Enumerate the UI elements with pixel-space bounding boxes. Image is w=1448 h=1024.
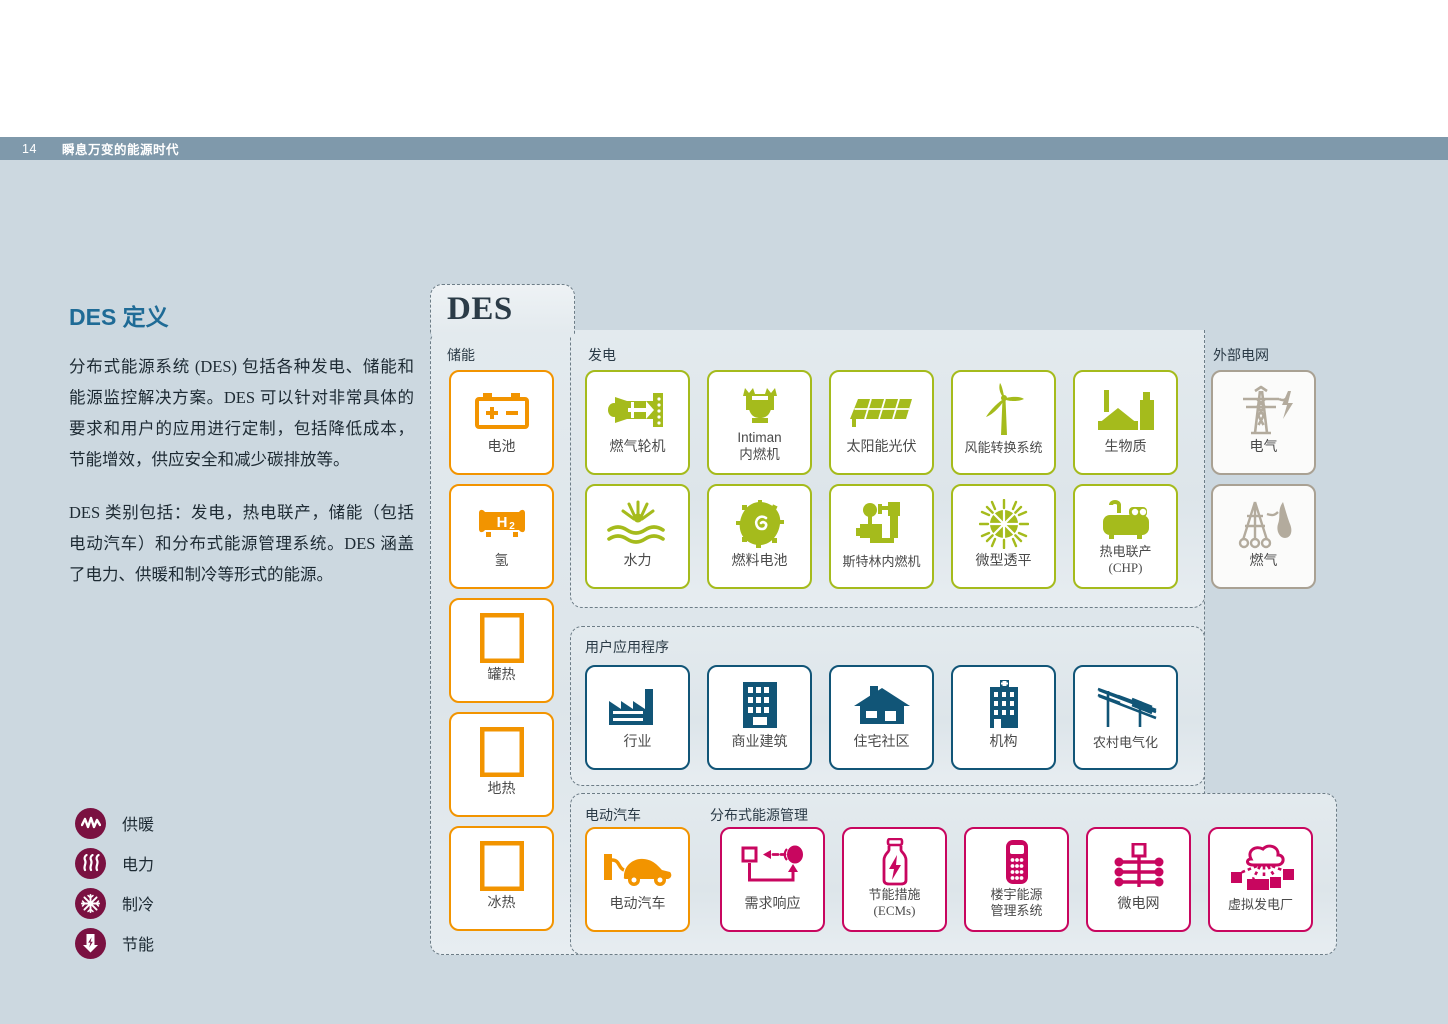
- bems-phone-icon: [978, 838, 1056, 886]
- card-label: 地热: [451, 782, 552, 798]
- card-label: 商业建筑: [709, 735, 810, 751]
- card-label: 燃料电池: [709, 554, 810, 570]
- chp-icon: [1087, 495, 1165, 543]
- wind-turbine-icon: [965, 381, 1043, 439]
- microgrid-icon: [1100, 838, 1178, 896]
- card-gas-grid[interactable]: 燃气: [1211, 484, 1316, 589]
- commercial-building-icon: [721, 676, 799, 734]
- card-micro-turbine[interactable]: 微型透平: [951, 484, 1056, 589]
- card-geothermal[interactable]: 地热: [449, 712, 554, 817]
- card-label-bottom: (CHP): [1075, 560, 1176, 575]
- card-residential[interactable]: 住宅社区: [829, 665, 934, 770]
- group-title-external-grid: 外部电网: [1213, 345, 1269, 365]
- card-label-bottom: 管理系统: [966, 903, 1067, 918]
- svg-text:2: 2: [509, 521, 515, 532]
- card-label: 生物质: [1075, 440, 1176, 456]
- card-hydrogen[interactable]: H 2 氢: [449, 484, 554, 589]
- card-virtual-power-plant[interactable]: 虚拟发电厂: [1208, 827, 1313, 932]
- house-icon: [843, 676, 921, 734]
- card-hydro-power[interactable]: 水力: [585, 484, 690, 589]
- card-fuel-cell[interactable]: 燃料电池: [707, 484, 812, 589]
- fuel-cell-icon: [721, 495, 799, 553]
- group-title-storage: 储能: [447, 345, 475, 365]
- card-ecm[interactable]: 节能措施 (ECMs): [842, 827, 947, 932]
- card-label: 农村电气化: [1075, 735, 1176, 750]
- card-ice-cold[interactable]: 冰热: [449, 826, 554, 931]
- card-combustion-engine[interactable]: Intiman 内燃机: [707, 370, 812, 475]
- group-title-generation: 发电: [588, 345, 616, 365]
- card-stirling-engine[interactable]: 斯特林内燃机: [829, 484, 934, 589]
- biomass-icon: [1087, 381, 1165, 439]
- des-diagram: DES 储能 发电 外部电网 用户应用程序 电动汽车 分布式能源管理 电池 H …: [0, 0, 1448, 1024]
- card-wind-turbine[interactable]: 风能转换系统: [951, 370, 1056, 475]
- card-label: 风能转换系统: [953, 440, 1054, 455]
- rural-power-line-icon: [1087, 676, 1165, 734]
- card-label: 微电网: [1088, 897, 1189, 913]
- card-gas-turbine[interactable]: 燃气轮机: [585, 370, 690, 475]
- card-label: 机构: [953, 735, 1054, 751]
- card-label: 电池: [451, 440, 552, 456]
- card-industry[interactable]: 行业: [585, 665, 690, 770]
- card-bems[interactable]: 楼宇能源 管理系统: [964, 827, 1069, 932]
- des-tab-label: DES: [447, 291, 513, 328]
- gas-flame-icon: [1225, 495, 1303, 553]
- des-tab: DES: [430, 284, 575, 334]
- group-title-des-management: 分布式能源管理: [710, 805, 808, 825]
- card-label: 热电联产: [1075, 544, 1176, 559]
- card-institution[interactable]: 机构: [951, 665, 1056, 770]
- card-demand-response[interactable]: 需求响应: [720, 827, 825, 932]
- card-biomass[interactable]: 生物质: [1073, 370, 1178, 475]
- card-label-bottom: (ECMs): [844, 903, 945, 918]
- card-microgrid[interactable]: 微电网: [1086, 827, 1191, 932]
- card-electric-vehicle[interactable]: 电动汽车: [585, 827, 690, 932]
- hydro-power-icon: [599, 495, 677, 553]
- ev-charging-icon: [599, 838, 677, 896]
- card-solar-pv[interactable]: 太阳能光伏: [829, 370, 934, 475]
- virtual-power-plant-icon: [1222, 838, 1300, 896]
- solar-pv-icon: [843, 381, 921, 439]
- card-label: 水力: [587, 554, 688, 570]
- power-pylon-icon: [1225, 381, 1303, 439]
- micro-turbine-icon: [965, 495, 1043, 553]
- card-label: 斯特林内燃机: [831, 554, 932, 569]
- card-label: 需求响应: [722, 897, 823, 913]
- card-label: 太阳能光伏: [831, 440, 932, 456]
- card-label: 内燃机: [709, 447, 810, 463]
- card-label: 电气: [1213, 440, 1314, 456]
- svg-text:H: H: [496, 514, 507, 531]
- card-label: 楼宇能源: [966, 887, 1067, 902]
- card-label: 冰热: [451, 896, 552, 912]
- ecm-bottle-icon: [856, 838, 934, 886]
- institution-icon: [965, 676, 1043, 734]
- group-title-user-applications: 用户应用程序: [585, 637, 669, 657]
- hydrogen-tank-icon: H 2: [463, 495, 541, 553]
- card-label: 燃气轮机: [587, 440, 688, 456]
- card-battery[interactable]: 电池: [449, 370, 554, 475]
- card-tank-heat[interactable]: 罐热: [449, 598, 554, 703]
- ice-cold-icon: [463, 837, 541, 895]
- card-chp[interactable]: 热电联产 (CHP): [1073, 484, 1178, 589]
- card-electric-grid[interactable]: 电气: [1211, 370, 1316, 475]
- card-rural-electrification[interactable]: 农村电气化: [1073, 665, 1178, 770]
- card-label: 住宅社区: [831, 735, 932, 751]
- card-label: 罐热: [451, 668, 552, 684]
- gas-turbine-icon: [599, 381, 677, 439]
- stirling-engine-icon: [843, 495, 921, 553]
- card-label: 燃气: [1213, 554, 1314, 570]
- battery-icon: [463, 381, 541, 439]
- card-commercial-building[interactable]: 商业建筑: [707, 665, 812, 770]
- group-title-electric-vehicles: 电动汽车: [585, 805, 641, 825]
- tank-heat-icon: [463, 609, 541, 667]
- factory-icon: [599, 676, 677, 734]
- combustion-engine-icon: [721, 381, 799, 429]
- card-label-top: Intiman: [709, 430, 810, 446]
- card-label: 虚拟发电厂: [1210, 897, 1311, 912]
- card-label: 行业: [587, 735, 688, 751]
- demand-response-icon: [734, 838, 812, 896]
- card-label: 节能措施: [844, 887, 945, 902]
- card-label: 氢: [451, 554, 552, 570]
- card-label: 电动汽车: [587, 897, 688, 913]
- card-label: 微型透平: [953, 554, 1054, 570]
- geothermal-icon: [463, 723, 541, 781]
